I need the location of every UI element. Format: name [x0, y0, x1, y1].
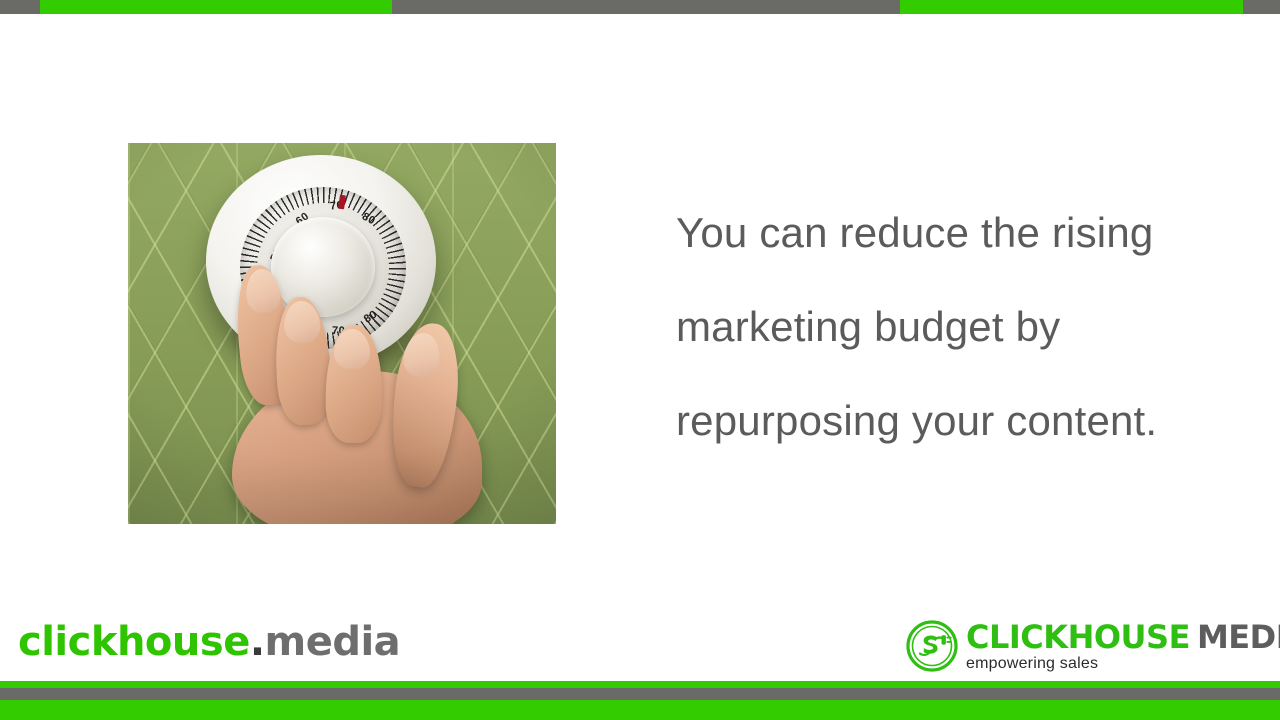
slide-photo: 50 60 70 80 50 60 70 80	[128, 143, 556, 524]
wordmark-dot: .	[250, 619, 265, 665]
top-bar-segment-gray-left	[0, 0, 40, 14]
top-decoration-bar	[0, 0, 1280, 14]
logo-name-media: MEDIA	[1197, 618, 1280, 656]
clickhouse-plug-logo-icon	[906, 620, 958, 672]
wordmark-clickhouse: clickhouse	[18, 619, 250, 665]
top-bar-segment-gray-middle	[392, 0, 900, 14]
clickhouse-media-logo: CLICKHOUSEMEDIA empowering sales	[906, 618, 1280, 674]
clickhouse-media-wordmark: clickhouse.media	[18, 622, 400, 662]
logo-text-block: CLICKHOUSEMEDIA empowering sales	[966, 621, 1280, 672]
photo-vignette	[128, 143, 556, 524]
bottom-bar-gray-stripe	[0, 688, 1280, 700]
wordmark-media: media	[265, 619, 401, 665]
bottom-bar-green-thin	[0, 681, 1280, 688]
bottom-bar-green-thick	[0, 700, 1280, 720]
logo-name-row: CLICKHOUSEMEDIA	[966, 621, 1280, 653]
slide-canvas: 50 60 70 80 50 60 70 80 You can reduce t…	[0, 0, 1280, 720]
slide-headline: You can reduce the rising marketing budg…	[676, 186, 1236, 468]
logo-tagline: empowering sales	[966, 656, 1280, 672]
top-bar-segment-gray-right	[1243, 0, 1280, 14]
top-bar-segment-green-right	[900, 0, 1243, 14]
top-bar-segment-green-left	[40, 0, 392, 14]
logo-name-clickhouse: CLICKHOUSE	[966, 618, 1190, 656]
